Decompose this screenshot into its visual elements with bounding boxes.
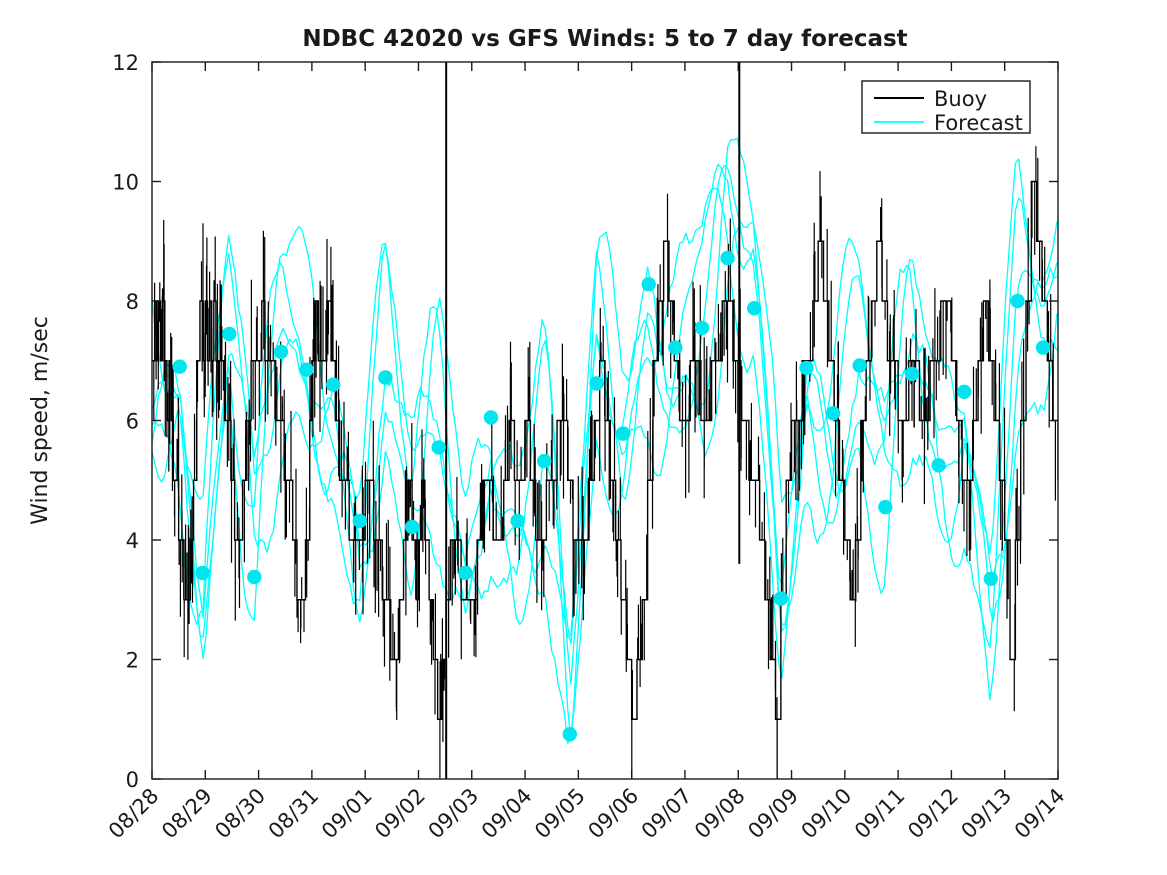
forecast-daily-mean-marker	[378, 370, 392, 384]
forecast-daily-mean-marker	[589, 376, 603, 390]
forecast-daily-mean-marker	[432, 440, 446, 454]
forecast-daily-mean-marker	[299, 363, 313, 377]
forecast-daily-mean-marker	[353, 514, 367, 528]
y-tick-label: 10	[112, 171, 139, 195]
forecast-daily-mean-marker	[720, 251, 734, 265]
forecast-daily-mean-marker	[695, 321, 709, 335]
forecast-daily-mean-marker	[195, 566, 209, 580]
y-tick-label: 0	[126, 768, 139, 792]
forecast-daily-mean-marker	[537, 454, 551, 468]
forecast-daily-mean-marker	[173, 360, 187, 374]
forecast-daily-mean-marker	[458, 566, 472, 580]
wind-speed-chart: 02468101208/2808/2908/3008/3109/0109/020…	[0, 0, 1167, 875]
y-tick-label: 4	[126, 529, 139, 553]
forecast-daily-mean-marker	[799, 361, 813, 375]
forecast-daily-mean-marker	[326, 378, 340, 392]
forecast-daily-mean-marker	[668, 340, 682, 354]
forecast-daily-mean-marker	[642, 277, 656, 291]
y-tick-label: 12	[112, 51, 139, 75]
forecast-daily-mean-marker	[563, 727, 577, 741]
forecast-daily-mean-marker	[1036, 340, 1050, 354]
forecast-daily-mean-marker	[905, 367, 919, 381]
y-tick-label: 8	[126, 290, 139, 314]
legend-label-forecast: Forecast	[934, 111, 1023, 135]
y-tick-label: 2	[126, 649, 139, 673]
forecast-daily-mean-marker	[405, 520, 419, 534]
forecast-daily-mean-marker	[616, 426, 630, 440]
forecast-daily-mean-marker	[774, 591, 788, 605]
forecast-daily-mean-marker	[274, 345, 288, 359]
forecast-daily-mean-marker	[957, 385, 971, 399]
forecast-daily-mean-marker	[853, 358, 867, 372]
y-axis-label: Wind speed, m/sec	[28, 316, 53, 525]
forecast-daily-mean-marker	[510, 514, 524, 528]
y-tick-label: 6	[126, 410, 139, 434]
forecast-daily-mean-marker	[1010, 294, 1024, 308]
chart-figure: 02468101208/2808/2908/3008/3109/0109/020…	[0, 0, 1167, 875]
forecast-daily-mean-marker	[747, 301, 761, 315]
legend-label-buoy: Buoy	[934, 87, 987, 111]
forecast-daily-mean-marker	[984, 572, 998, 586]
forecast-daily-mean-marker	[247, 570, 261, 584]
forecast-daily-mean-marker	[484, 410, 498, 424]
forecast-daily-mean-marker	[931, 458, 945, 472]
forecast-daily-mean-marker	[878, 500, 892, 514]
chart-title: NDBC 42020 vs GFS Winds: 5 to 7 day fore…	[302, 26, 907, 52]
forecast-daily-mean-marker	[222, 327, 236, 341]
forecast-daily-mean-marker	[826, 406, 840, 420]
